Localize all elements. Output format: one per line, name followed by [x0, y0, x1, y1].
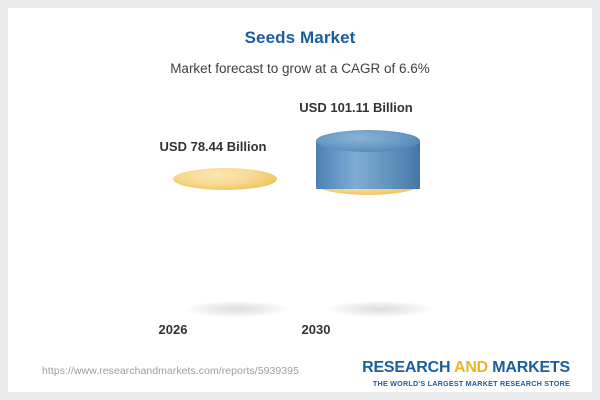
- bar-body: [316, 184, 420, 314]
- bar-top-cap: [173, 168, 277, 190]
- source-url[interactable]: https://www.researchandmarkets.com/repor…: [42, 365, 299, 377]
- logo-tagline: THE WORLD'S LARGEST MARKET RESEARCH STOR…: [362, 377, 570, 388]
- category-label-2030: 2030: [256, 322, 376, 337]
- bar-top-cap: [316, 130, 420, 152]
- bar-2026-base-segment: [173, 179, 277, 314]
- bar-value-label-2026: USD 78.44 Billion: [113, 139, 313, 154]
- chart-card: Seeds Market Market forecast to grow at …: [8, 8, 592, 392]
- category-label-2026: 2026: [113, 322, 233, 337]
- brand-logo: RESEARCH AND MARKETS THE WORLD'S LARGEST…: [362, 360, 570, 388]
- logo-word-and: AND: [450, 359, 488, 376]
- chart-plot-area: USD 78.44 Billion USD 101.11 Billion: [8, 8, 592, 392]
- bar-2030-base-segment: [316, 184, 420, 314]
- logo-wordmark: RESEARCH AND MARKETS: [362, 360, 570, 377]
- bar-body: [173, 179, 277, 314]
- logo-word-markets: MARKETS: [488, 359, 570, 376]
- bar-2030-growth-segment: [316, 141, 420, 189]
- logo-word-research: RESEARCH: [362, 359, 450, 376]
- bar-value-label-2030: USD 101.11 Billion: [256, 100, 456, 115]
